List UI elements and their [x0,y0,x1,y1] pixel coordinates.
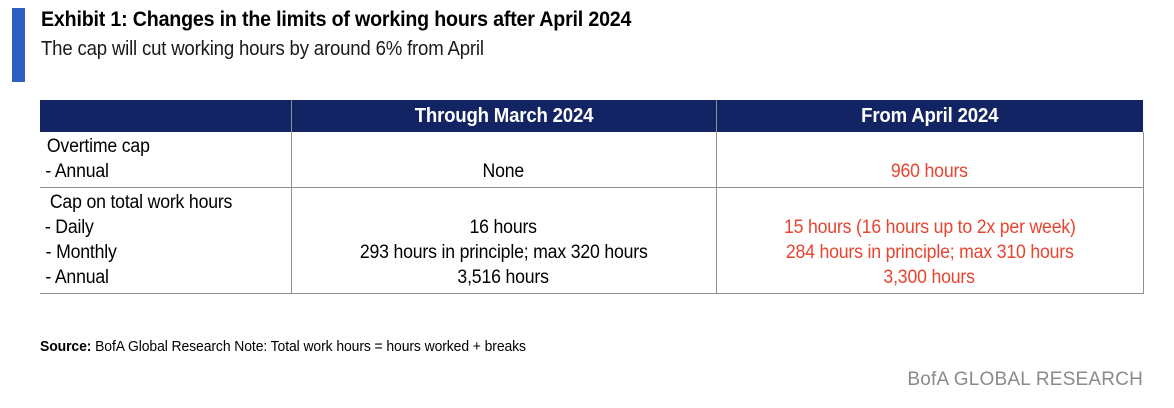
table-row: Cap on total work hours - Daily - Monthl… [40,188,1143,294]
cell-lines: Overtime cap - Annual [43,132,291,187]
row-after-cap-on-total-work-hours: 15 hours (16 hours up to 2x per week) 28… [716,188,1143,294]
cell-line: Cap on total work hours [43,190,291,215]
exhibit-header: Exhibit 1: Changes in the limits of work… [0,0,1174,92]
cell-line: - Monthly [43,240,291,265]
cell-line: - Daily [43,215,291,240]
cell-line: 3,300 hours [717,265,1143,290]
cell-lines: Cap on total work hours - Daily - Monthl… [43,188,291,293]
research-watermark: BofA GLOBAL RESEARCH [907,369,1143,391]
cell-line: 284 hours in principle; max 310 hours [717,240,1143,265]
column-header-from-april-2024: From April 2024 [716,100,1143,132]
row-before-cap-on-total-work-hours: 16 hours 293 hours in principle; max 320… [291,188,716,294]
table-body: Overtime cap - Annual None 960 hours [40,132,1143,294]
exhibit-subtitle: The cap will cut working hours by around… [41,36,1064,62]
column-header-from-april-2024-label: From April 2024 [861,105,998,128]
column-header-blank [40,100,291,132]
exhibit-table: Through March 2024 From April 2024 Overt… [40,100,1144,294]
cell-lines: 960 hours [717,132,1143,187]
exhibit-container: Exhibit 1: Changes in the limits of work… [0,0,1174,408]
source-label: Source: [40,338,91,355]
cell-line: 960 hours [717,159,1143,184]
table-header-row: Through March 2024 From April 2024 [40,100,1143,132]
cell-line: 3,516 hours [292,265,716,290]
cell-line: - Annual [43,265,291,290]
cell-line: - Annual [43,159,291,184]
cell-lines: 16 hours 293 hours in principle; max 320… [292,188,716,293]
cell-line: Overtime cap [43,134,291,159]
source-line: Source: BofA Global Research Note: Total… [40,337,563,356]
row-before-overtime-cap: None [291,132,716,188]
table-header: Through March 2024 From April 2024 [40,100,1143,132]
row-label-cap-on-total-work-hours: Cap on total work hours - Daily - Monthl… [40,188,291,294]
accent-bar [12,8,25,82]
cell-lines: None [292,132,716,187]
table-row: Overtime cap - Annual None 960 hours [40,132,1143,188]
title-wrapper: Exhibit 1: Changes in the limits of work… [41,6,1141,62]
column-header-through-march-2024-label: Through March 2024 [414,105,593,128]
exhibit-title: Exhibit 1: Changes in the limits of work… [41,6,1070,33]
cell-lines: 15 hours (16 hours up to 2x per week) 28… [717,188,1143,293]
cell-line: 16 hours [292,215,716,240]
column-header-through-march-2024: Through March 2024 [291,100,716,132]
cell-line: 293 hours in principle; max 320 hours [292,240,716,265]
row-after-overtime-cap: 960 hours [716,132,1143,188]
row-label-overtime-cap: Overtime cap - Annual [40,132,291,188]
cell-line: 15 hours (16 hours up to 2x per week) [717,215,1143,240]
source-text: BofA Global Research Note: Total work ho… [95,338,526,355]
cell-line: None [292,159,716,184]
